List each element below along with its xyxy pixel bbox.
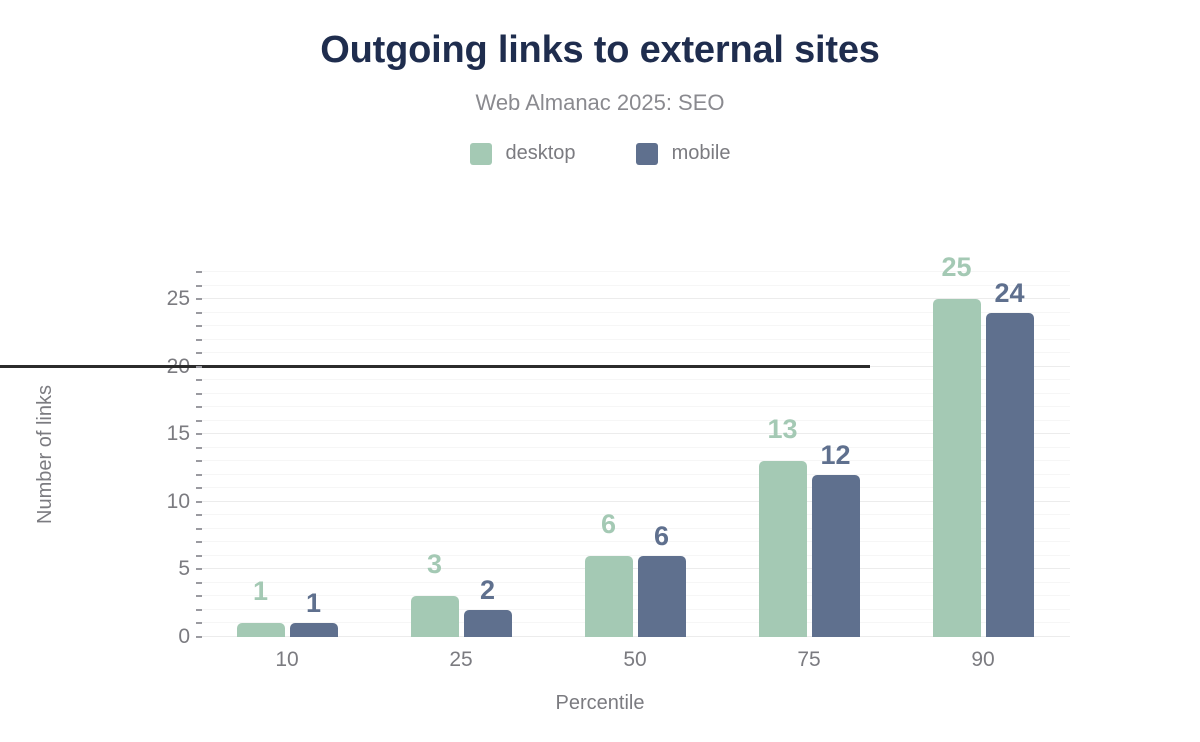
bar-value-mobile-75: 12 [801, 440, 871, 471]
bar-desktop-25[interactable] [411, 596, 459, 637]
y-tick-mark [196, 582, 202, 584]
bar-desktop-90[interactable] [933, 299, 981, 637]
bar-group-10: 11 [237, 272, 338, 637]
plot-area: 11326613122524 [200, 272, 1070, 637]
y-tick-mark [196, 339, 202, 341]
y-tick-mark [196, 528, 202, 530]
y-tick-mark [196, 379, 202, 381]
bar-value-mobile-10: 1 [279, 588, 349, 619]
y-tick-label: 10 [130, 490, 190, 514]
y-tick-mark [196, 433, 202, 435]
legend-label: desktop [506, 142, 576, 165]
y-tick-mark [196, 406, 202, 408]
y-tick-label: 0 [130, 625, 190, 649]
y-tick-mark [196, 474, 202, 476]
bar-desktop-75[interactable] [759, 461, 807, 637]
y-tick-mark [196, 636, 202, 638]
y-tick-label: 25 [130, 287, 190, 311]
bar-value-mobile-25: 2 [453, 575, 523, 606]
bar-mobile-10[interactable] [290, 623, 338, 637]
y-tick-mark [196, 271, 202, 273]
y-axis-title: Number of links [28, 272, 62, 637]
y-tick-mark [196, 393, 202, 395]
bar-group-50: 66 [585, 272, 686, 637]
y-tick-mark [196, 312, 202, 314]
y-tick-label: 5 [130, 557, 190, 581]
bar-desktop-50[interactable] [585, 556, 633, 637]
bar-group-90: 2524 [933, 272, 1034, 637]
y-tick-mark [196, 568, 202, 570]
y-tick-mark [196, 514, 202, 516]
bar-chart: Outgoing links to external sites Web Alm… [0, 0, 1200, 742]
bar-desktop-10[interactable] [237, 623, 285, 637]
bar-value-mobile-90: 24 [975, 278, 1045, 309]
bar-mobile-25[interactable] [464, 610, 512, 637]
legend-swatch-mobile [636, 143, 658, 165]
chart-title: Outgoing links to external sites [0, 30, 1200, 72]
y-tick-mark [196, 541, 202, 543]
x-axis-title: Percentile [0, 692, 1200, 715]
legend-item-desktop[interactable]: desktop [470, 142, 576, 165]
y-tick-mark [196, 285, 202, 287]
y-axis-ticks: 0510152025 [130, 272, 190, 637]
y-tick-mark [196, 609, 202, 611]
y-tick-mark [196, 366, 202, 368]
y-tick-mark [196, 352, 202, 354]
x-tick-label: 10 [232, 648, 342, 672]
y-axis-title-label: Number of links [34, 385, 57, 524]
legend-swatch-desktop [470, 143, 492, 165]
bar-mobile-75[interactable] [812, 475, 860, 637]
bar-group-75: 1312 [759, 272, 860, 637]
y-tick-mark [196, 460, 202, 462]
y-tick-mark [196, 555, 202, 557]
y-tick-mark [196, 325, 202, 327]
legend-label: mobile [672, 142, 731, 165]
y-tick-mark [196, 298, 202, 300]
bar-group-25: 32 [411, 272, 512, 637]
bar-groups: 11326613122524 [200, 272, 1070, 637]
x-tick-label: 25 [406, 648, 516, 672]
y-tick-mark [196, 501, 202, 503]
x-tick-label: 50 [580, 648, 690, 672]
y-tick-mark [196, 487, 202, 489]
y-tick-mark [196, 420, 202, 422]
chart-legend: desktopmobile [0, 142, 1200, 165]
y-tick-mark [196, 595, 202, 597]
legend-item-mobile[interactable]: mobile [636, 142, 731, 165]
y-tick-mark [196, 622, 202, 624]
bar-value-mobile-50: 6 [627, 521, 697, 552]
chart-subtitle: Web Almanac 2025: SEO [0, 90, 1200, 116]
x-tick-label: 75 [754, 648, 864, 672]
x-axis-line [0, 365, 870, 368]
x-tick-label: 90 [928, 648, 1038, 672]
y-tick-label: 15 [130, 422, 190, 446]
bar-mobile-50[interactable] [638, 556, 686, 637]
bar-mobile-90[interactable] [986, 313, 1034, 637]
y-tick-mark [196, 447, 202, 449]
